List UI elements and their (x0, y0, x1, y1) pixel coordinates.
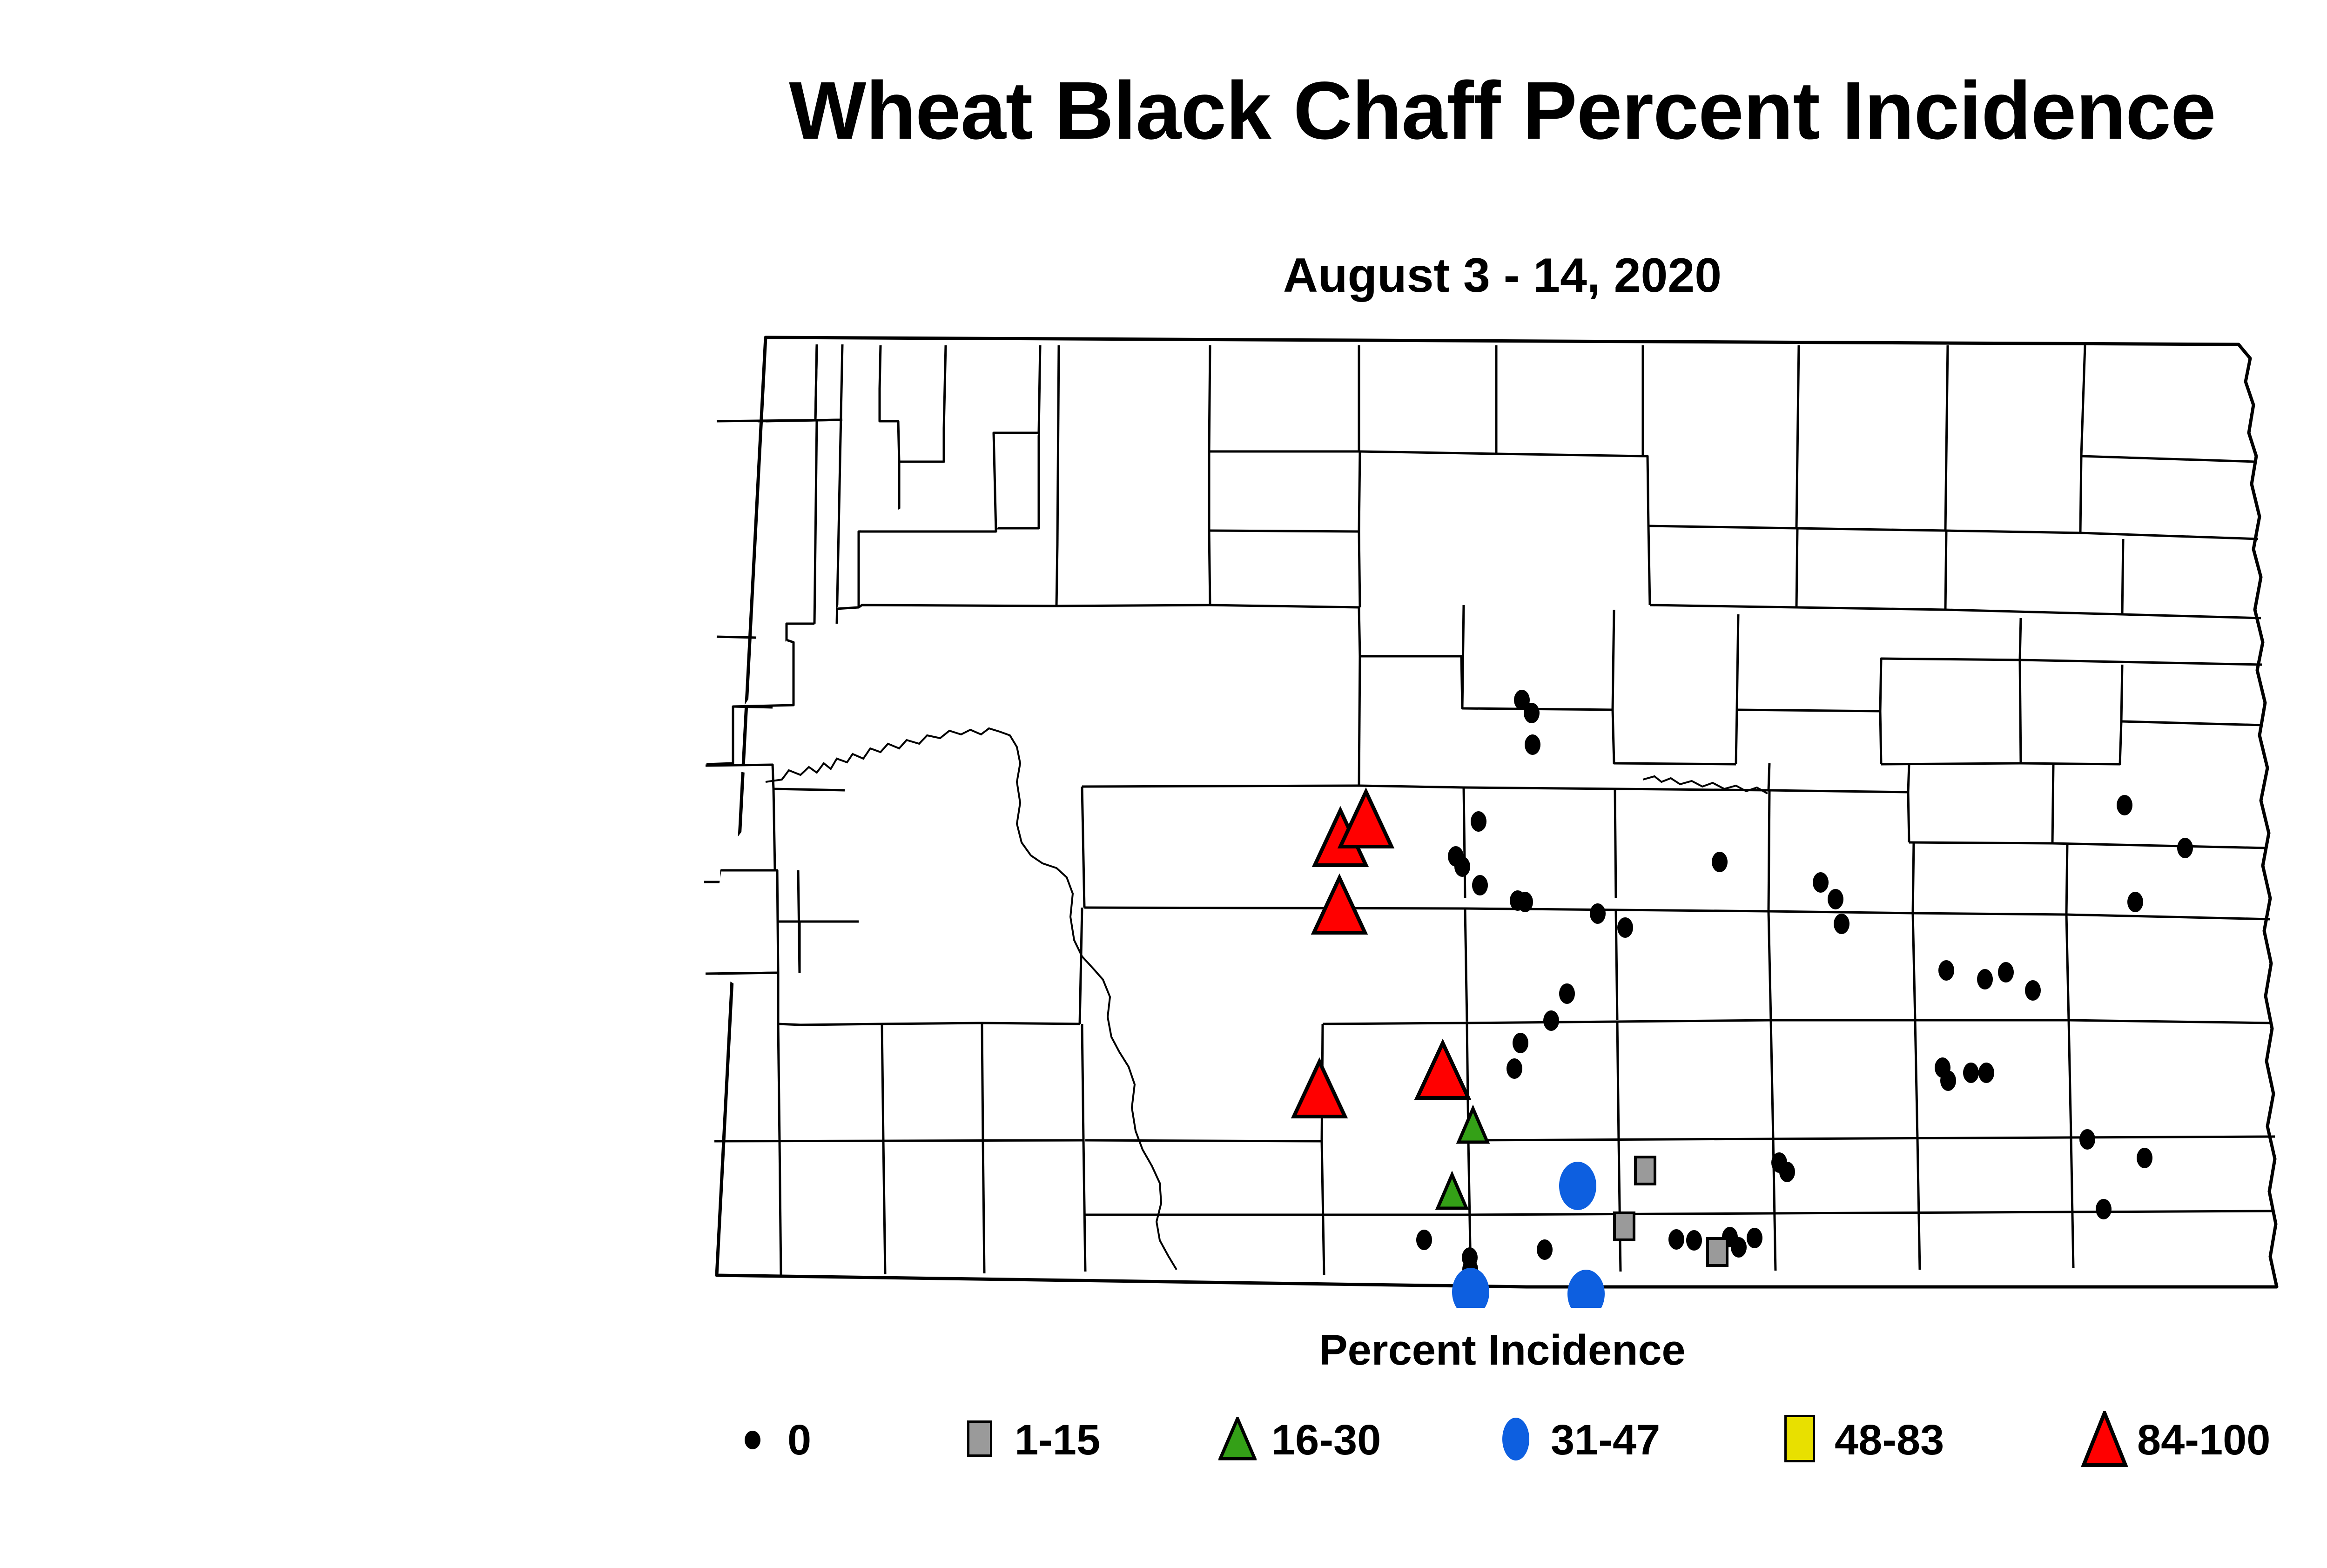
county-line (1617, 1022, 1619, 1140)
map-marker-0 (1686, 1230, 1702, 1251)
map-marker-0 (1747, 1228, 1762, 1248)
map-marker-0 (1517, 892, 1533, 912)
county-line (2121, 665, 2122, 721)
county-line (1769, 790, 1769, 911)
map-svg (689, 316, 2327, 1308)
map-marker-0 (1828, 889, 1843, 909)
map-marker-0 (1506, 1058, 1522, 1079)
county-line (1913, 842, 1914, 913)
county-line (1464, 787, 1465, 898)
map-marker-0 (2117, 795, 2132, 815)
yellow-square-icon (1778, 1410, 1823, 1466)
legend-item-4[interactable]: 48-83 (1778, 1406, 1944, 1471)
map-marker-0 (1998, 962, 2014, 983)
county-line (1082, 786, 1359, 787)
county-line (1881, 763, 2021, 764)
county-line (1084, 908, 1465, 908)
county-line (1616, 910, 1769, 911)
map-marker-0 (1940, 1070, 1956, 1091)
map-marker-0 (1963, 1063, 1979, 1083)
dot-icon (731, 1410, 775, 1466)
blue-circle-icon (1494, 1410, 1539, 1466)
county-line (1209, 531, 1359, 532)
map-marker-0 (1977, 969, 1993, 989)
county-line (983, 1140, 984, 1273)
county-line (2052, 764, 2053, 843)
county-line (982, 1023, 1080, 1024)
county-line (1946, 345, 1948, 456)
map-marker-0 (1454, 856, 1470, 877)
map-marker-1-15 (1614, 1213, 1634, 1240)
county-line (2122, 539, 2123, 614)
county-line (1615, 789, 1616, 898)
county-line (1209, 345, 1210, 531)
map-marker-0 (2096, 1199, 2112, 1219)
map-marker-0 (1668, 1229, 1684, 1250)
county-line (1737, 614, 1738, 710)
map-marker-0 (1978, 1063, 1994, 1083)
legend-label-2: 16-30 (1271, 1419, 1381, 1461)
county-line (1057, 345, 1059, 545)
county-line (1085, 1140, 1322, 1141)
gray-square-icon (958, 1410, 1002, 1466)
county-line (1464, 787, 1615, 789)
county-line (1467, 1022, 1617, 1023)
county-line (1648, 526, 1650, 605)
legend-item-2[interactable]: 16-30 (1215, 1406, 1381, 1471)
map-marker-1-15 (1635, 1157, 1655, 1184)
county-line (1880, 711, 1881, 764)
county-line (2020, 618, 2021, 660)
county-line (717, 637, 756, 638)
county-line (1908, 764, 1909, 792)
county-line (1909, 842, 2052, 843)
map-marker-0 (2177, 838, 2193, 858)
county-line (1323, 1023, 1467, 1024)
map-marker-0 (1779, 1162, 1795, 1182)
legend-title: Percent Incidence (0, 1329, 2327, 1372)
county-line (1039, 345, 1040, 432)
county-line (882, 1023, 982, 1024)
legend: 0 1-15 16-30 31-47 4 (731, 1406, 2313, 1471)
county-line (1613, 610, 1614, 710)
map-marker-0 (1472, 875, 1488, 895)
legend-label-4: 48-83 (1835, 1419, 1944, 1461)
county-line (1769, 763, 1769, 790)
county-line (982, 1023, 983, 1140)
county-line (1617, 1020, 1771, 1022)
county-line (780, 1141, 781, 1275)
legend-label-0: 0 (787, 1419, 811, 1461)
map-marker-0 (1938, 960, 1954, 981)
map-marker-0 (1471, 811, 1486, 832)
county-line (778, 1024, 780, 1141)
county-line (1359, 451, 1360, 532)
map-marker-0 (1813, 872, 1829, 893)
county-line (1913, 913, 2066, 915)
map-marker-0 (1525, 734, 1540, 755)
map-marker-0 (2137, 1148, 2152, 1168)
county-line (880, 345, 881, 389)
county-line (1616, 910, 1617, 1020)
map-page: Wheat Black Chaff Percent Incidence Augu… (0, 0, 2327, 1568)
county-line (882, 1024, 883, 1141)
county-line (2066, 843, 2067, 915)
map-marker-0 (2025, 980, 2041, 1001)
map-marker-0 (2127, 892, 2143, 912)
county-line (1359, 656, 1360, 786)
map-marker-0 (1731, 1237, 1747, 1258)
legend-item-3[interactable]: 31-47 (1494, 1406, 1660, 1471)
map-marker-0 (1543, 1010, 1559, 1031)
county-line (1945, 531, 1946, 610)
north-dakota-map (689, 316, 2327, 1308)
map-marker-0 (1524, 703, 1540, 723)
map-marker-0 (2079, 1129, 2095, 1150)
legend-label-1: 1-15 (1015, 1419, 1100, 1461)
county-line (714, 1140, 1083, 1141)
map-marker-0 (1559, 983, 1575, 1004)
county-line (2020, 660, 2021, 763)
legend-item-0[interactable]: 0 (731, 1406, 811, 1471)
county-line (1082, 1024, 1083, 1140)
county-line (815, 344, 817, 421)
map-marker-31-47 (1559, 1162, 1596, 1210)
map-marker-0 (1537, 1239, 1553, 1260)
map-marker-0 (1617, 917, 1633, 938)
map-marker-0 (1416, 1230, 1432, 1250)
county-line (1359, 532, 1360, 607)
county-line (733, 707, 773, 707)
map-marker-0 (1590, 903, 1606, 924)
map-marker-0 (1513, 1033, 1528, 1053)
red-triangle-icon (2080, 1410, 2125, 1466)
county-line (704, 789, 775, 882)
date-range-subtitle: August 3 - 14, 2020 (0, 251, 2327, 300)
county-line (717, 420, 842, 421)
legend-label-5: 84-100 (2137, 1419, 2270, 1461)
legend-item-5[interactable]: 84-100 (2080, 1406, 2270, 1471)
county-line (1796, 528, 1797, 607)
map-marker-0 (1834, 914, 1849, 934)
county-line (1797, 345, 1799, 456)
green-triangle-icon (1215, 1410, 1259, 1466)
map-marker-1-15 (1708, 1238, 1727, 1265)
county-line (1462, 605, 1464, 708)
county-line (706, 870, 778, 974)
county-line (800, 1024, 882, 1025)
legend-item-1[interactable]: 1-15 (958, 1406, 1100, 1471)
legend-label-3: 31-47 (1551, 1419, 1660, 1461)
county-boundaries (704, 337, 2277, 1287)
map-marker-0 (1712, 852, 1728, 872)
page-title: Wheat Black Chaff Percent Incidence (0, 70, 2327, 152)
